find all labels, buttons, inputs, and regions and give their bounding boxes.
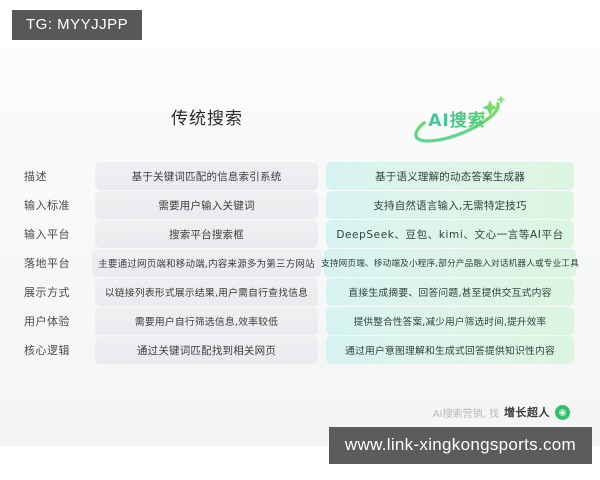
ai-search-logo: AI搜索	[398, 86, 516, 148]
row-label: 输入标准	[24, 191, 86, 219]
cell-legacy: 主要通过网页端和移动端,内容来源多为第三方网站	[92, 249, 321, 277]
cell-ai: 直接生成摘要、回答问题,甚至提供交互式内容	[326, 278, 574, 306]
site-watermark-overlay: www.link-xingkongsports.com	[329, 427, 592, 464]
row-label: 落地平台	[24, 249, 86, 277]
cell-legacy: 需要用户输入关键词	[95, 191, 318, 219]
table-row: 描述 基于关键词匹配的信息索引系统 基于语义理解的动态答案生成器	[0, 162, 600, 190]
table-row: 展示方式 以链接列表形式展示结果,用户需自行查找信息 直接生成摘要、回答问题,甚…	[0, 278, 600, 306]
table-row: 输入标准 需要用户输入关键词 支持自然语言输入,无需特定技巧	[0, 191, 600, 219]
footer-brand-name: 增长超人	[504, 404, 550, 420]
row-label: 用户体验	[24, 307, 86, 335]
table-row: 用户体验 需要用户自行筛选信息,效率较低 提供整合性答案,减少用户筛选时间,提升…	[0, 307, 600, 335]
table-row: 输入平台 搜索平台搜索框 DeepSeek、豆包、kimi、文心一言等AI平台	[0, 220, 600, 248]
row-label: 核心逻辑	[24, 336, 86, 364]
comparison-card: 传统搜索	[0, 48, 600, 446]
cell-legacy: 以链接列表形式展示结果,用户需自行查找信息	[95, 278, 318, 306]
row-label: 展示方式	[24, 278, 86, 306]
row-label: 描述	[24, 162, 86, 190]
cell-ai: 提供整合性答案,减少用户筛选时间,提升效率	[326, 307, 574, 335]
footer-brand: AI搜索营销, 找 增长超人 ◉	[0, 400, 600, 426]
cell-legacy: 通过关键词匹配找到相关网页	[95, 336, 318, 364]
cell-ai: 基于语义理解的动态答案生成器	[326, 162, 574, 190]
footer-brand-prefix: AI搜索营销, 找	[433, 405, 499, 420]
row-label: 输入平台	[24, 220, 86, 248]
legacy-search-heading: 传统搜索	[142, 104, 272, 129]
comparison-table: 描述 基于关键词匹配的信息索引系统 基于语义理解的动态答案生成器 输入标准 需要…	[0, 162, 600, 365]
cell-ai: 通过用户意图理解和生成式回答提供知识性内容	[326, 336, 574, 364]
footer-brand-inner: AI搜索营销, 找 增长超人 ◉	[433, 400, 570, 424]
cell-legacy: 需要用户自行筛选信息,效率较低	[95, 307, 318, 335]
ai-search-heading: AI搜索	[398, 106, 516, 131]
cell-ai: 支持自然语言输入,无需特定技巧	[326, 191, 574, 219]
table-row: 落地平台 主要通过网页端和移动端,内容来源多为第三方网站 支持网页端、移动端及小…	[0, 249, 600, 277]
table-row: 核心逻辑 通过关键词匹配找到相关网页 通过用户意图理解和生成式回答提供知识性内容	[0, 336, 600, 364]
cell-legacy: 搜索平台搜索框	[95, 220, 318, 248]
cell-legacy: 基于关键词匹配的信息索引系统	[95, 162, 318, 190]
heading-row: 传统搜索	[0, 86, 600, 156]
green-circle-logo-icon: ◉	[555, 405, 570, 420]
cell-ai: 支持网页端、移动端及小程序,部分产品融入对话机器人或专业工具	[324, 249, 576, 277]
cell-ai: DeepSeek、豆包、kimi、文心一言等AI平台	[326, 220, 574, 248]
tg-tag-overlay: TG: MYYJJPP	[12, 10, 142, 40]
